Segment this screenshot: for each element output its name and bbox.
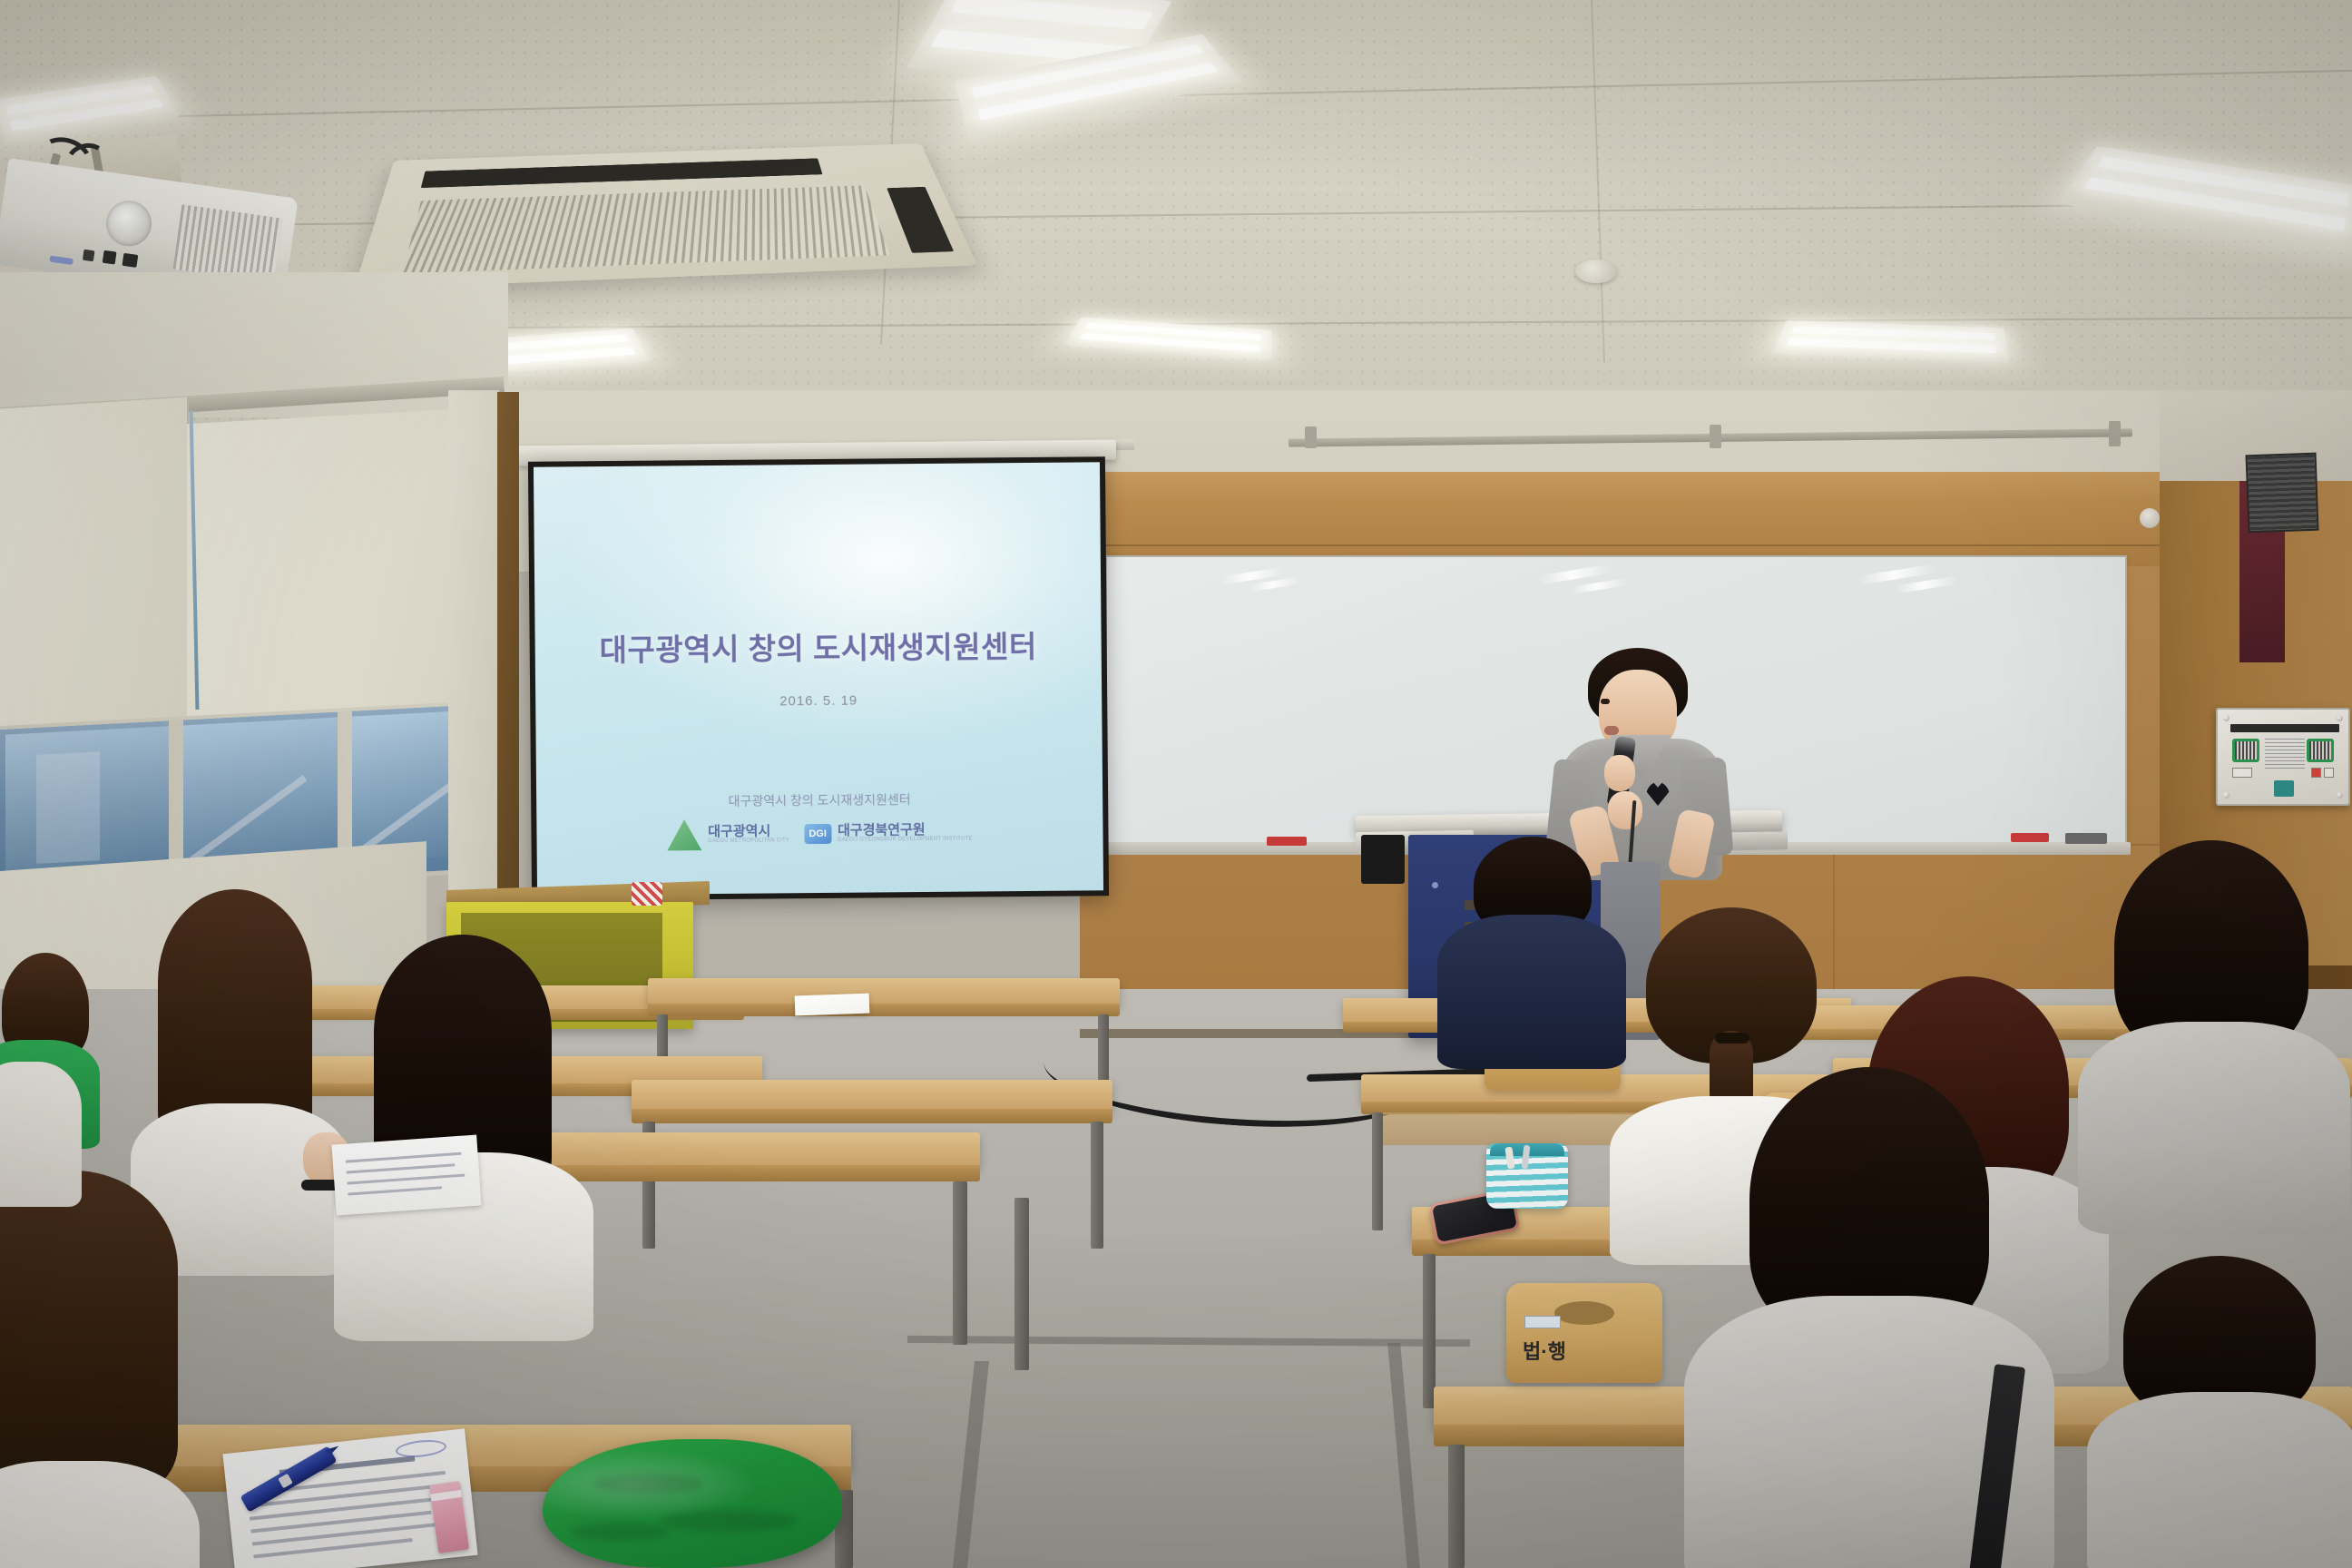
window-reflection: [36, 751, 100, 864]
pen-in-case: [1522, 1145, 1531, 1170]
panel-header-bar: [2230, 724, 2339, 732]
wood-panel-seam: [1080, 544, 2232, 546]
projection-screen: 대구광역시 창의 도시재생지원센터 2016. 5. 19 대구광역시 창의 도…: [528, 456, 1109, 901]
wall-edge-wood: [497, 392, 519, 933]
student-far-right: [2078, 840, 2352, 1221]
worksheet-back-left[interactable]: [795, 994, 870, 1016]
presenter-hand-upper: [1604, 755, 1635, 791]
panel-instruction-text: [2265, 739, 2305, 769]
desk-leg: [1448, 1445, 1465, 1568]
desk-leg: [1091, 1122, 1103, 1249]
slide-title: 대구광역시 창의 도시재생지원센터: [534, 622, 1101, 670]
pen-clip: [278, 1474, 292, 1488]
panel-button-left[interactable]: [2232, 739, 2259, 762]
desk-row-center-1: [632, 1080, 1112, 1112]
student-center-navy: [1425, 837, 1633, 1054]
panel-indicator-white: [2324, 768, 2334, 778]
logo-daegu-label-kr: 대구광역시: [708, 824, 789, 838]
student-bottom-right: [2087, 1256, 2352, 1568]
student-bottom-left: [0, 1171, 218, 1568]
wall-pillar: [448, 390, 499, 935]
worksheet-stamp: [395, 1438, 447, 1460]
presenter-hand-lower: [1608, 791, 1642, 829]
dgi-square-icon: DGI: [804, 824, 831, 844]
chair-inventory-tag: [1524, 1316, 1561, 1328]
desk-leg: [1372, 1112, 1383, 1230]
logo-daegu-city: 대구광역시 DAEGU METROPOLITAN CITY: [667, 818, 789, 850]
red-object-on-cabinet[interactable]: [632, 882, 662, 906]
panel-indicator-red: [2311, 768, 2321, 778]
student-front-right: [1679, 1067, 2060, 1568]
logo-dgi: DGI 대구경북연구원 DAEGU GYEONGBUK DEVELOPMENT …: [804, 822, 973, 844]
air-conditioner-unit: [354, 143, 977, 289]
slide-footer-text: 대구광역시 창의 도시재생지원센터: [536, 789, 1102, 811]
hair-tie: [1715, 1033, 1749, 1044]
desk-edge: [648, 1004, 1120, 1016]
wall-control-panel[interactable]: [2216, 708, 2350, 806]
panel-door-icon: [2274, 780, 2294, 797]
track-bracket: [1305, 426, 1317, 448]
slide-date: 2016. 5. 19: [535, 691, 1102, 710]
whiteboard-marker[interactable]: [1267, 837, 1307, 846]
fire-alarm-icon: [2140, 508, 2160, 528]
student-mid-left: [325, 935, 597, 1334]
pencil-case[interactable]: [1486, 1143, 1568, 1209]
slide-logo-row: 대구광역시 DAEGU METROPOLITAN CITY DGI 대구경북연구…: [536, 816, 1102, 851]
logo-dgi-label-en: DAEGU GYEONGBUK DEVELOPMENT INSTITUTE: [838, 836, 973, 843]
desk-edge: [632, 1109, 1112, 1123]
daegu-mountain-icon: [667, 819, 701, 850]
presenter-eye: [1601, 699, 1610, 704]
chair-department-label: 법·행: [1523, 1336, 1566, 1365]
panel-button-right[interactable]: [2307, 739, 2334, 762]
wall-speaker: [2246, 453, 2319, 534]
classroom-photo: 대구광역시 창의 도시재생지원센터 2016. 5. 19 대구광역시 창의 도…: [0, 0, 2352, 1568]
logo-daegu-label-en: DAEGU METROPOLITAN CITY: [708, 838, 789, 845]
whiteboard-marker[interactable]: [2011, 833, 2049, 842]
projected-slide: 대구광역시 창의 도시재생지원센터 2016. 5. 19 대구광역시 창의 도…: [534, 462, 1103, 895]
desk-leg: [953, 1181, 967, 1345]
chair-back[interactable]: 법·행: [1506, 1283, 1662, 1383]
green-jacket[interactable]: [543, 1439, 842, 1568]
desk-leg: [1014, 1198, 1029, 1370]
presenter-mouth: [1604, 726, 1619, 735]
podium-monitor: [1361, 835, 1405, 884]
worksheet-mid-left[interactable]: [331, 1135, 481, 1216]
panel-indicator-left: [2232, 768, 2252, 778]
desk-leg: [1423, 1254, 1436, 1408]
track-bracket: [1710, 425, 1721, 448]
projector-status-led: [49, 256, 73, 266]
smoke-detector: [1575, 260, 1617, 283]
projector-lens-icon: [103, 198, 154, 249]
logo-dgi-label-kr: 대구경북연구원: [838, 822, 973, 837]
student-left-edge: [0, 1025, 82, 1189]
track-bracket: [2109, 421, 2121, 446]
